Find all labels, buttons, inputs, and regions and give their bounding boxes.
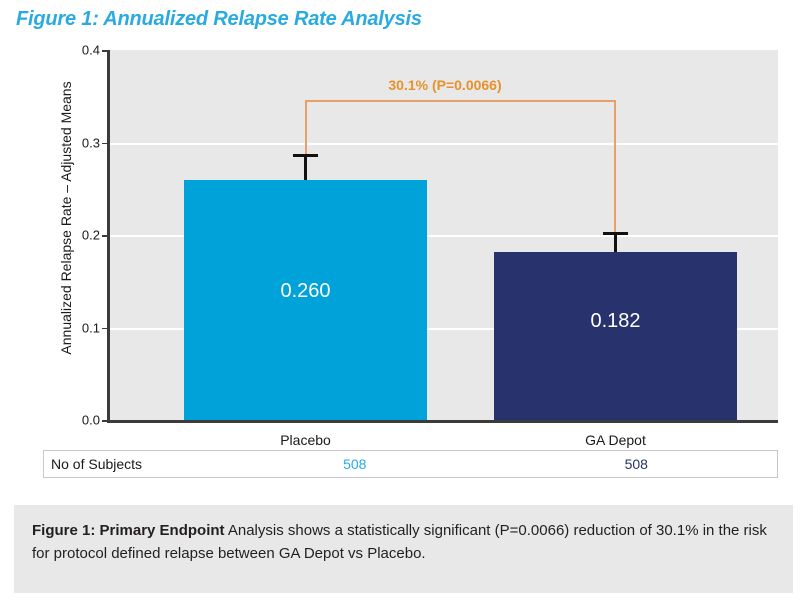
x-axis-label-placebo: Placebo (184, 432, 427, 448)
caption-text: Figure 1: Primary Endpoint Analysis show… (32, 519, 775, 566)
bar-ga-depot[interactable]: 0.182 (494, 252, 737, 420)
gridline-0.3 (110, 143, 778, 145)
significance-label: 30.1% (P=0.0066) (280, 77, 610, 93)
chart-container: Annualized Relapse Rate – Adjusted Means… (0, 40, 807, 440)
y-tick-label-0: 0.0 (66, 413, 100, 428)
caption-bold-lead: Figure 1: Primary Endpoint (32, 522, 225, 539)
y-tick-label-2: 0.2 (66, 228, 100, 243)
subjects-table: No of Subjects 508 508 (43, 450, 778, 478)
error-bar-cap-ga-depot (603, 232, 628, 235)
subjects-count-placebo: 508 (214, 456, 496, 472)
error-bar-stem-placebo (304, 154, 307, 180)
y-tick-label-4: 0.4 (66, 43, 100, 58)
bar-value-ga-depot: 0.182 (494, 310, 737, 333)
page-title: Figure 1: Annualized Relapse Rate Analys… (16, 8, 422, 31)
y-tick-label-3: 0.3 (66, 135, 100, 150)
y-tick-label-1: 0.1 (66, 320, 100, 335)
bracket-left-arm (305, 100, 307, 154)
error-bar-cap-placebo (293, 154, 318, 157)
caption-box: Figure 1: Primary Endpoint Analysis show… (14, 505, 793, 593)
subjects-count-ga-depot: 508 (496, 456, 778, 472)
plot-area: 0.260 0.182 30.1% (P=0.0066) (110, 50, 778, 420)
x-axis-label-ga-depot: GA Depot (494, 432, 737, 448)
x-axis-line (107, 420, 778, 423)
bar-value-placebo: 0.260 (184, 280, 427, 303)
y-axis-tick-labels: 0.0 0.1 0.2 0.3 0.4 (64, 40, 100, 420)
bracket-right-arm (614, 100, 616, 232)
subjects-row-label: No of Subjects (44, 456, 214, 472)
bar-placebo[interactable]: 0.260 (184, 180, 427, 421)
bracket-horizontal (305, 100, 616, 102)
